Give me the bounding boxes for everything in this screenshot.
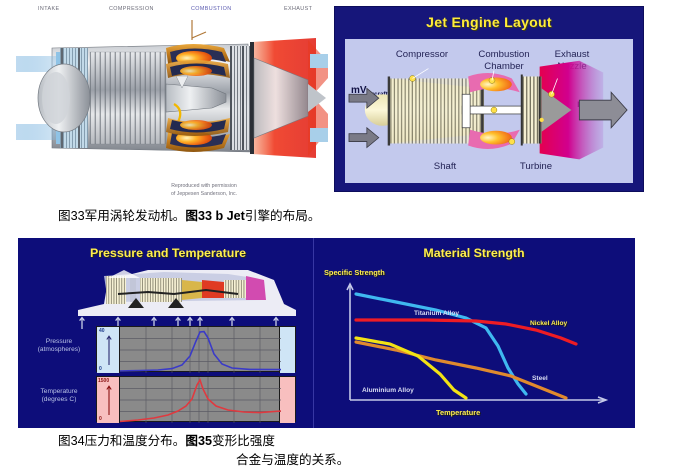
temperature-max-value: 1500 [98,378,109,384]
pressure-temperature-panel: Pressure and Temperature [24,242,312,424]
material-strength-title: Material Strength [318,246,630,260]
temperature-scale-arrow-icon [106,385,112,415]
stage-label-exhaust: EXHAUST [284,6,312,12]
pressure-max-value: 40 [99,328,105,334]
temperature-scale-right [279,377,295,423]
curve-label-nickel-alloy: Nickel Alloy [530,320,567,327]
caption-34: 图34压力和温度分布。 [58,434,185,448]
turbofan-cutaway-illustration [16,18,328,178]
attribution-text: Reproduced with permission of Jeppesen S… [134,182,274,198]
jet-layout-illustration [345,39,633,183]
stage-label-combustion: COMBUSTION [191,6,232,12]
stage-label-intake: INTAKE [38,6,59,12]
caption-figure-35-line2: 合金与温度的关系。 [236,449,349,468]
temperature-axis-caption: Temperature (degrees C) [26,388,92,404]
caption-figure-33: 图33军用涡轮发动机。图33 b Jet引擎的布局。 [58,205,320,224]
pressure-chart: 40 0 [96,326,296,372]
curve-label-aluminium-alloy: Aluminium Alloy [362,387,414,394]
temperature-caption-line1: Temperature [26,388,92,396]
temperature-scale-left: 1500 0 [97,377,120,423]
pressure-scale-right [279,327,295,373]
temperature-min-value: 0 [99,416,102,422]
pressure-min-value: 0 [99,366,102,372]
jet-layout-title: Jet Engine Layout [335,14,643,30]
caption-35-prefix: 图35 [185,434,212,448]
jet-engine-layout-panel: Jet Engine Layout Compressor Combustion … [334,6,644,192]
engine-stage-labels: INTAKE COMPRESSION COMBUSTION EXHAUST [16,6,328,18]
attribution-line-1: Reproduced with permission [134,182,274,190]
curve-label-steel: Steel [532,375,548,382]
caption-figure-34-35: 图34压力和温度分布。图35变形比强度 [58,430,275,449]
turbofan-engine-figure: INTAKE COMPRESSION COMBUSTION EXHAUST [16,2,328,202]
y-axis-label: Specific Strength [324,268,385,277]
curve-label-titanium-alloy: Titanium Alloy [414,310,459,317]
caption-35-text: 变形比强度 [212,434,275,448]
engine-profile-illustration [78,264,296,316]
temperature-chart: 1500 0 [96,376,296,422]
caption-33b-prefix: 图33 b [185,209,226,223]
caption-33b-suffix: 引擎的布局。 [245,209,321,223]
pressure-caption-line2: (atmospheres) [26,346,92,354]
temperature-curve [120,377,281,423]
material-strength-panel: Material Strength Specific Strength Temp… [318,242,630,424]
pressure-curve [120,327,281,373]
pressure-temperature-title: Pressure and Temperature [24,246,312,260]
pressure-axis-caption: Pressure (atmospheres) [26,338,92,354]
row2-figure-panel: Pressure and Temperature [18,238,635,428]
panel-divider [313,238,314,428]
pressure-caption-line1: Pressure [26,338,92,346]
caption-33b-jet: Jet [227,209,245,223]
stage-label-compression: COMPRESSION [109,6,154,12]
attribution-line-2: of Jeppesen Sanderson, Inc. [134,190,274,198]
x-axis-label: Temperature [436,408,480,417]
jet-layout-diagram: Compressor Combustion Chamber Exhaust No… [345,39,633,183]
caption-33a: 图33军用涡轮发动机。 [58,209,185,223]
pressure-scale-left: 40 0 [97,327,120,373]
pressure-scale-arrow-icon [106,335,112,365]
temperature-caption-line2: (degrees C) [26,396,92,404]
